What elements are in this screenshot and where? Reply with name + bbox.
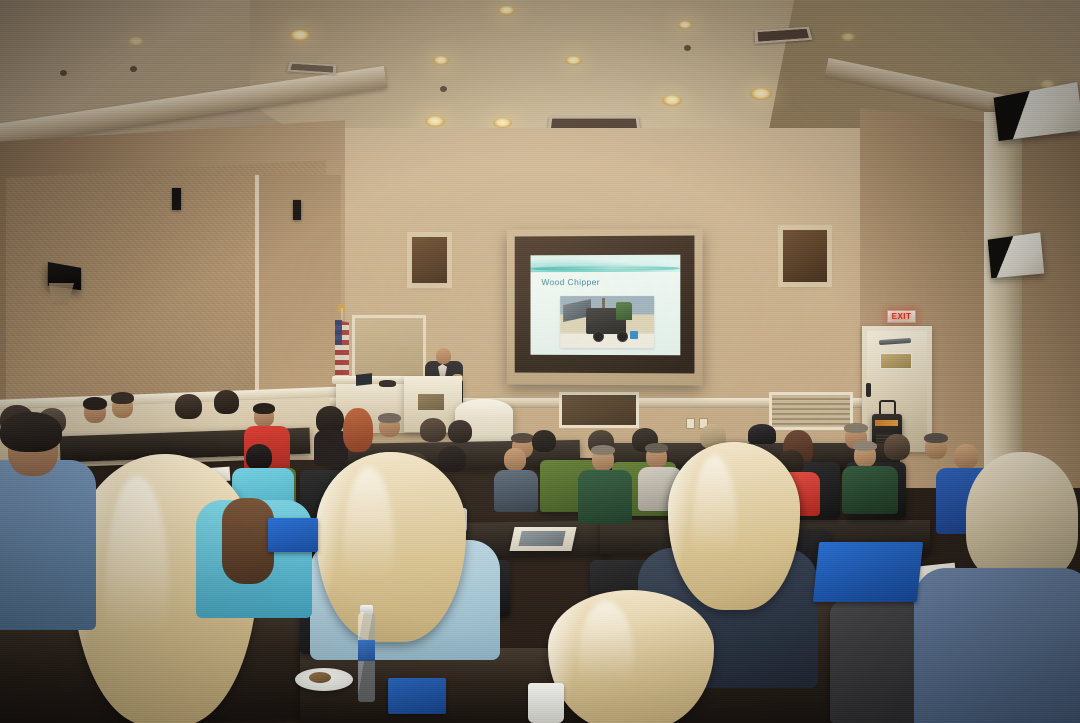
ceiling-sprinkler-1 <box>60 70 67 76</box>
projection-screen: Wood Chipper <box>507 228 703 385</box>
presenter-head <box>436 348 451 364</box>
tote-bag-front <box>388 678 446 714</box>
door-handle-icon[interactable] <box>866 383 871 397</box>
speaker-face <box>988 232 1045 278</box>
person-hair <box>438 446 466 472</box>
screen-frame: Wood Chipper <box>515 236 695 374</box>
person-hair <box>378 413 401 423</box>
person-hair <box>511 433 534 443</box>
person-hair <box>175 394 202 419</box>
person-hair <box>884 434 910 460</box>
person-foreground-blonde-bottom <box>548 590 714 723</box>
person-foreground-blonde-center-hair <box>316 452 466 642</box>
ceiling-light-8 <box>750 88 772 100</box>
person-hair <box>214 390 239 414</box>
rolling-case-handle <box>879 400 896 414</box>
ceiling-light-5 <box>498 6 515 15</box>
podium-plaque <box>418 394 444 410</box>
wall-sensor-left-2 <box>293 200 301 220</box>
plate-food <box>309 672 331 683</box>
person-hat-icon <box>748 424 776 444</box>
chipper-barrel <box>630 331 638 339</box>
person-arm <box>222 498 274 584</box>
person-torso <box>842 466 898 514</box>
exit-sign: EXIT <box>887 310 916 323</box>
person-hair <box>591 445 615 455</box>
case-label <box>875 420 898 426</box>
flag-canton <box>335 320 342 345</box>
person-hair <box>844 423 868 433</box>
ceiling-sprinkler-2 <box>130 66 137 72</box>
person-hair <box>253 403 275 414</box>
exit-sign-label: EXIT <box>892 312 912 321</box>
person-torso <box>578 470 632 524</box>
person-hair <box>420 418 446 442</box>
ceiling-light-6 <box>565 56 582 65</box>
person-head <box>504 448 526 471</box>
wall-panel-right <box>783 230 827 282</box>
person-torso-denim <box>914 568 1080 723</box>
ceiling-sprinkler-4 <box>684 45 691 51</box>
ceiling-light-11 <box>841 33 855 41</box>
tote-bag-left <box>268 518 318 552</box>
person-hair <box>111 392 134 404</box>
wall-outlet-1 <box>686 418 695 429</box>
laptop-on-counter <box>356 373 372 386</box>
slide-photo <box>560 296 654 348</box>
paper-plate <box>295 668 353 691</box>
slide-header-graphic <box>531 255 681 272</box>
slide-surface: Wood Chipper <box>531 255 681 356</box>
person-hair <box>343 408 373 452</box>
person-foreground-blonde-right-hair <box>668 442 800 610</box>
person-hair <box>924 433 948 443</box>
door-closer-icon <box>879 338 911 345</box>
right-wall-pillar <box>984 112 1022 472</box>
person-hair <box>448 420 472 443</box>
ceiling-light-2 <box>425 116 445 127</box>
door-plaque <box>881 354 911 368</box>
wall-sensor-left <box>172 188 181 210</box>
wall-vent-left <box>562 395 636 425</box>
chipper-wheel-right <box>618 332 627 341</box>
chipper-cab <box>616 302 632 320</box>
person-torso <box>494 470 538 512</box>
open-book <box>509 527 576 551</box>
person-hair <box>853 441 877 451</box>
chipper-wheel-left <box>594 332 603 341</box>
object-on-counter <box>379 380 396 387</box>
ceiling-light-9 <box>128 37 144 46</box>
wall-speaker-lower-right-icon <box>988 232 1045 278</box>
ceiling-light-7 <box>662 95 682 106</box>
ceiling-light-10 <box>678 21 692 29</box>
person-hair <box>532 430 556 452</box>
person-hair <box>83 397 107 410</box>
person-torso <box>0 460 96 630</box>
slide-title: Wood Chipper <box>541 277 600 287</box>
ceiling-light-3 <box>433 56 449 65</box>
conference-room-photo: Wood Chipper <box>0 0 1080 723</box>
book-cover <box>519 531 566 546</box>
cup-foreground <box>528 683 564 723</box>
ceiling-light-1 <box>290 30 310 41</box>
person-head <box>954 444 978 469</box>
person-hair <box>0 412 62 452</box>
wall-panel-left <box>412 237 447 283</box>
person-hair <box>966 452 1078 582</box>
ceiling-light-4 <box>493 118 512 128</box>
person-hair <box>645 443 668 453</box>
water-bottle-label <box>358 640 375 661</box>
person-hair <box>246 444 272 470</box>
wall-vent-right <box>772 395 850 427</box>
tote-bag-right <box>813 542 923 602</box>
ceiling-sprinkler-3 <box>440 86 447 92</box>
